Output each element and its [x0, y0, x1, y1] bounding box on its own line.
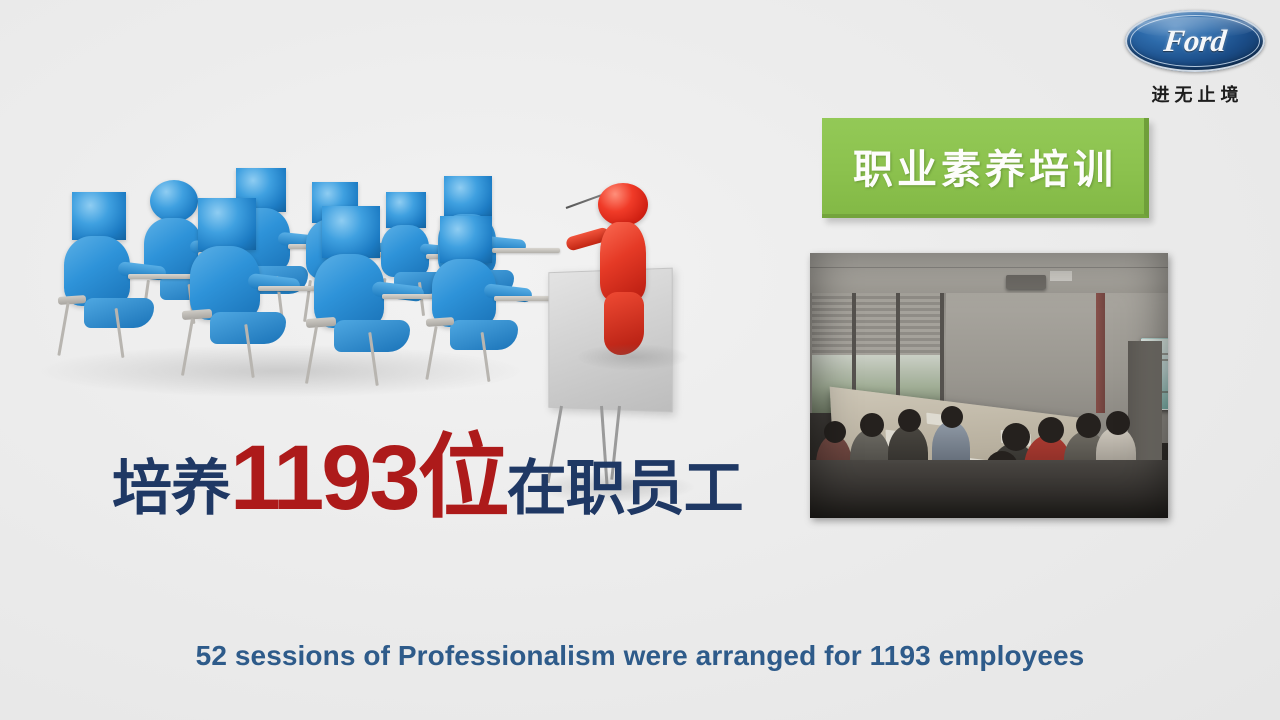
photo-floor [810, 460, 1168, 518]
photo-image [810, 253, 1168, 518]
photo-attendee-head [941, 406, 963, 428]
headline-prefix: 培养 [112, 455, 230, 522]
photo-attendee-head [1076, 413, 1101, 438]
training-room-photo [810, 253, 1168, 518]
instructor-torso [600, 222, 646, 300]
photo-attendee-head [824, 421, 846, 443]
section-banner-label: 职业素养培训 [849, 137, 1117, 195]
slide-caption: 52 sessions of Professionalism were arra… [0, 640, 1280, 672]
ford-slogan: 进无止境 [1122, 81, 1268, 107]
photo-projector [1006, 275, 1046, 289]
photo-attendee-head [1038, 417, 1064, 443]
headline-number: 1193位 [230, 427, 507, 529]
ford-logo-icon: Ford [1125, 10, 1265, 72]
photo-attendee-head [860, 413, 884, 437]
ford-brand-block: Ford 进无止境 [1122, 10, 1268, 107]
slide-canvas: Ford 进无止境 职业素养培训 [0, 0, 1280, 720]
photo-attendee-head [1002, 423, 1030, 451]
instructor-legs [604, 292, 644, 355]
photo-attendee-head [1106, 411, 1130, 435]
headline-suffix: 在职员工 [507, 455, 743, 522]
instructor-head [598, 183, 648, 226]
page-title: 培养1193位在职员工 [112, 432, 743, 524]
ford-logo-wordmark: Ford [1162, 23, 1228, 59]
photo-attendee-head [898, 409, 921, 432]
section-banner: 职业素养培训 [822, 118, 1149, 218]
